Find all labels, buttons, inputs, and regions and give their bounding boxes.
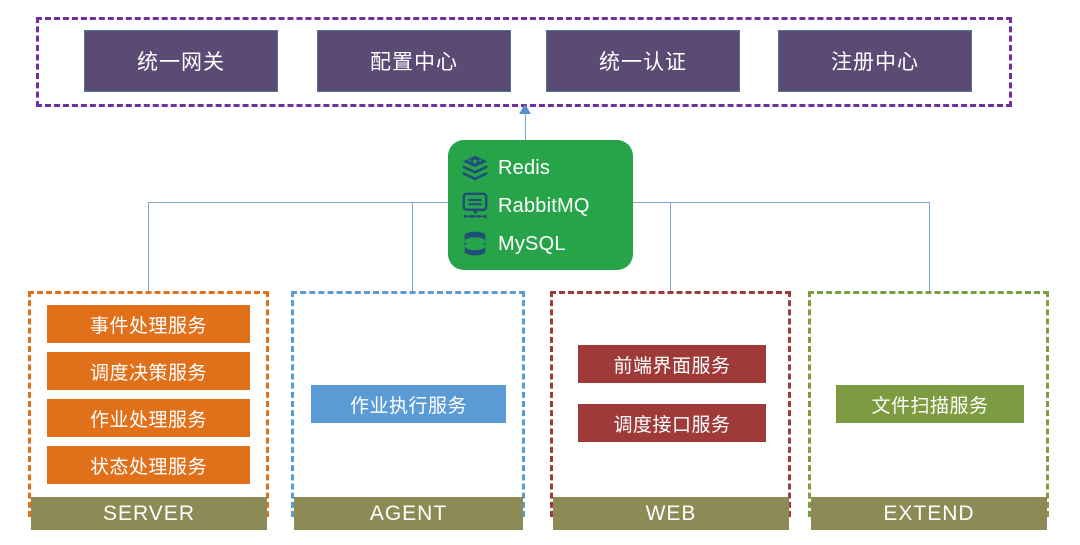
rabbitmq-icon xyxy=(458,189,492,223)
middleware-label-mysql: MySQL xyxy=(498,233,566,256)
platform-box-config-center[interactable]: 配置中心 xyxy=(317,30,511,92)
service-box-status-processing[interactable]: 状态处理服务 xyxy=(47,446,250,484)
group-label-extend: EXTEND xyxy=(811,497,1047,530)
arrow-up-icon xyxy=(519,104,531,114)
service-box-frontend-ui[interactable]: 前端界面服务 xyxy=(578,345,766,383)
middleware-label-redis: Redis xyxy=(498,157,550,180)
service-box-file-scan[interactable]: 文件扫描服务 xyxy=(836,385,1024,423)
platform-box-registry[interactable]: 注册中心 xyxy=(778,30,972,92)
service-box-schedule-decision[interactable]: 调度决策服务 xyxy=(47,352,250,390)
middleware-label-rabbitmq: RabbitMQ xyxy=(498,195,590,218)
connector-drop-agent xyxy=(412,202,413,292)
connector-drop-server xyxy=(148,202,149,292)
platform-box-gateway[interactable]: 统一网关 xyxy=(84,30,278,92)
connector-middleware-to-platform xyxy=(525,113,526,142)
service-box-job-execution[interactable]: 作业执行服务 xyxy=(311,385,506,423)
group-label-server: SERVER xyxy=(31,497,267,530)
service-box-event-processing[interactable]: 事件处理服务 xyxy=(47,305,250,343)
group-label-web: WEB xyxy=(553,497,789,530)
service-box-job-processing[interactable]: 作业处理服务 xyxy=(47,399,250,437)
service-box-schedule-api[interactable]: 调度接口服务 xyxy=(578,404,766,442)
architecture-diagram: 统一网关 配置中心 统一认证 注册中心 Redis xyxy=(0,0,1080,545)
connector-drop-web xyxy=(670,202,671,292)
platform-box-auth[interactable]: 统一认证 xyxy=(546,30,740,92)
connector-drop-extend xyxy=(929,202,930,292)
middleware-stack: Redis RabbitMQ xyxy=(448,140,633,270)
mysql-icon xyxy=(458,227,492,261)
middleware-item-mysql: MySQL xyxy=(458,225,633,263)
connector-bus-right xyxy=(632,202,930,203)
middleware-item-rabbitmq: RabbitMQ xyxy=(458,187,633,225)
connector-bus-left xyxy=(148,202,449,203)
middleware-item-redis: Redis xyxy=(458,149,633,187)
redis-icon xyxy=(458,151,492,185)
group-label-agent: AGENT xyxy=(294,497,523,530)
